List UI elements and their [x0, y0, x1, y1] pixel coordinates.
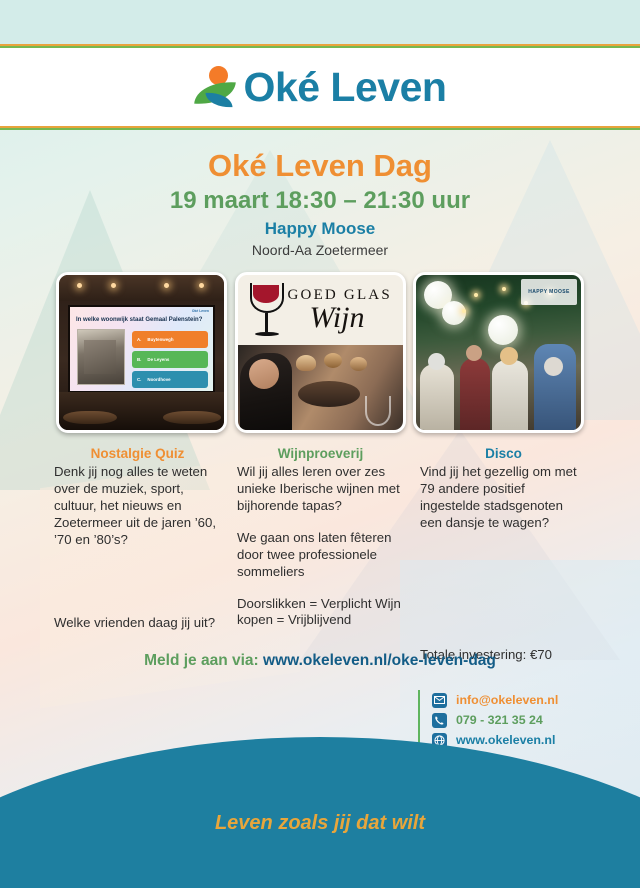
info-columns: Nostalgie Quiz Denk jij nog alles te wet… — [54, 446, 588, 664]
contact-website: www.okeleven.nl — [456, 734, 555, 746]
answer-label: Noordhove — [147, 377, 170, 382]
poster-canvas: Oké Leven Oké Leven Dag 19 maart 18:30 –… — [0, 0, 640, 888]
column-disco: Disco Vind jij het gezellig om met 79 an… — [420, 446, 587, 664]
column-heading-wine: Wijnproeverij — [237, 446, 404, 462]
answer-label: De Leyens — [147, 357, 169, 362]
answer-key: A. — [137, 337, 141, 342]
footer-slogan: Leven zoals jij dat wilt — [0, 812, 640, 835]
brand-logo: Oké Leven — [194, 64, 447, 110]
envelope-icon — [432, 693, 447, 708]
event-location: Noord-Aa Zoetermeer — [0, 241, 640, 259]
photo-row: Oké Leven In welke woonwijk staat Gemaal… — [56, 272, 584, 433]
top-band — [0, 0, 640, 46]
column-paragraph: Doorslikken = Verplicht Wijn kopen = Vri… — [237, 596, 404, 630]
sommelier-figure — [240, 353, 292, 430]
column-paragraph: We gaan ons laten fêteren door twee pro­… — [237, 530, 404, 581]
brand-name: Oké Leven — [244, 67, 447, 108]
contact-email: info@okeleven.nl — [456, 694, 558, 706]
happy-moose-watermark: HAPPY MOOSE — [521, 279, 577, 305]
column-paragraph: Welke vrienden daag jij uit? — [54, 615, 221, 632]
quiz-photo-thumb — [77, 329, 125, 385]
quiz-slide: Oké Leven In welke woonwijk staat Gemaal… — [68, 305, 215, 393]
divider-green-bottom — [0, 128, 640, 130]
signup-url-link[interactable]: www.okeleven.nl/oke-leven-dag — [263, 652, 496, 669]
wine-photo: GOED GLAS Wijn — [235, 272, 406, 433]
quiz-photo: Oké Leven In welke woonwijk staat Gemaal… — [56, 272, 227, 433]
quiz-answer-b: B. De Leyens — [132, 351, 208, 368]
event-venue: Happy Moose — [0, 218, 640, 240]
answer-label: Buytenwegh — [147, 337, 173, 342]
slide-brand: Oké Leven — [192, 309, 209, 313]
event-title-block: Oké Leven Dag 19 maart 18:30 – 21:30 uur… — [0, 150, 640, 259]
column-quiz: Nostalgie Quiz Denk jij nog alles te wet… — [54, 446, 221, 664]
contact-row-email[interactable]: info@okeleven.nl — [432, 690, 558, 710]
phone-icon — [432, 713, 447, 728]
signup-lead: Meld je aan via: — [144, 652, 259, 669]
contact-row-phone[interactable]: 079 - 321 35 24 — [432, 710, 558, 730]
signup-line: Meld je aan via: www.okeleven.nl/oke-lev… — [0, 652, 640, 670]
contact-phone: 079 - 321 35 24 — [456, 714, 543, 726]
quiz-question: In welke woonwijk staat Gemaal Palenstei… — [76, 317, 208, 324]
answer-key: C. — [137, 377, 141, 382]
quiz-answer-c: C. Noordhove — [132, 371, 208, 388]
column-paragraph: Wil jij alles leren over zes unieke Iber… — [237, 464, 404, 515]
contact-block: info@okeleven.nl 079 - 321 35 24 www.oke… — [418, 690, 558, 750]
wine-glass-icon — [250, 283, 284, 339]
quiz-answer-a: A. Buytenwegh — [132, 331, 208, 348]
watermark-text: HAPPY MOOSE — [528, 289, 570, 295]
wine-brand-line2: Wijn — [310, 301, 365, 335]
column-heading-quiz: Nostalgie Quiz — [54, 446, 221, 462]
page-title: Oké Leven Dag — [0, 150, 640, 183]
column-heading-disco: Disco — [420, 446, 587, 462]
answer-key: B. — [137, 357, 141, 362]
logo-band: Oké Leven — [0, 48, 640, 126]
column-paragraph: Denk jij nog alles te weten over de muzi… — [54, 464, 221, 548]
column-paragraph: Vind jij het gezellig om met 79 andere p… — [420, 464, 587, 532]
column-wine: Wijnproeverij Wil jij alles leren over z… — [237, 446, 404, 664]
disco-photo: HAPPY MOOSE — [413, 272, 584, 433]
leaf-sun-logo-icon — [194, 64, 240, 110]
event-datetime: 19 maart 18:30 – 21:30 uur — [0, 185, 640, 217]
